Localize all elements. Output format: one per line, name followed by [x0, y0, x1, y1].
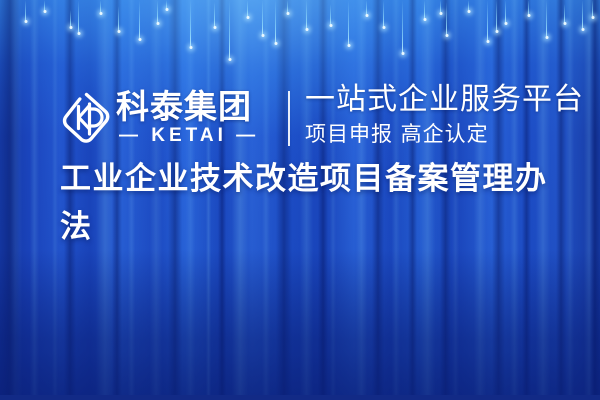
slogan-sub: 项目申报 高企认定 — [305, 124, 489, 145]
bottom-edge-bar — [0, 395, 600, 400]
brand-name-cn: 科泰集团 — [116, 90, 252, 123]
bottom-shade-overlay — [0, 250, 600, 400]
promo-banner: 科泰集团 — KETAI — 一站式企业服务平台 项目申报 高企认定 工业企业技… — [0, 0, 600, 400]
brand-name-en: — KETAI — — [119, 126, 259, 145]
slogan-main: 一站式企业服务平台 — [305, 85, 584, 115]
ketai-logo-icon — [62, 90, 112, 146]
banner-header: 科泰集团 — KETAI — 一站式企业服务平台 项目申报 高企认定 — [0, 38, 600, 118]
header-divider — [288, 91, 290, 146]
page-title: 工业企业技术改造项目备案管理办法 — [60, 155, 560, 251]
